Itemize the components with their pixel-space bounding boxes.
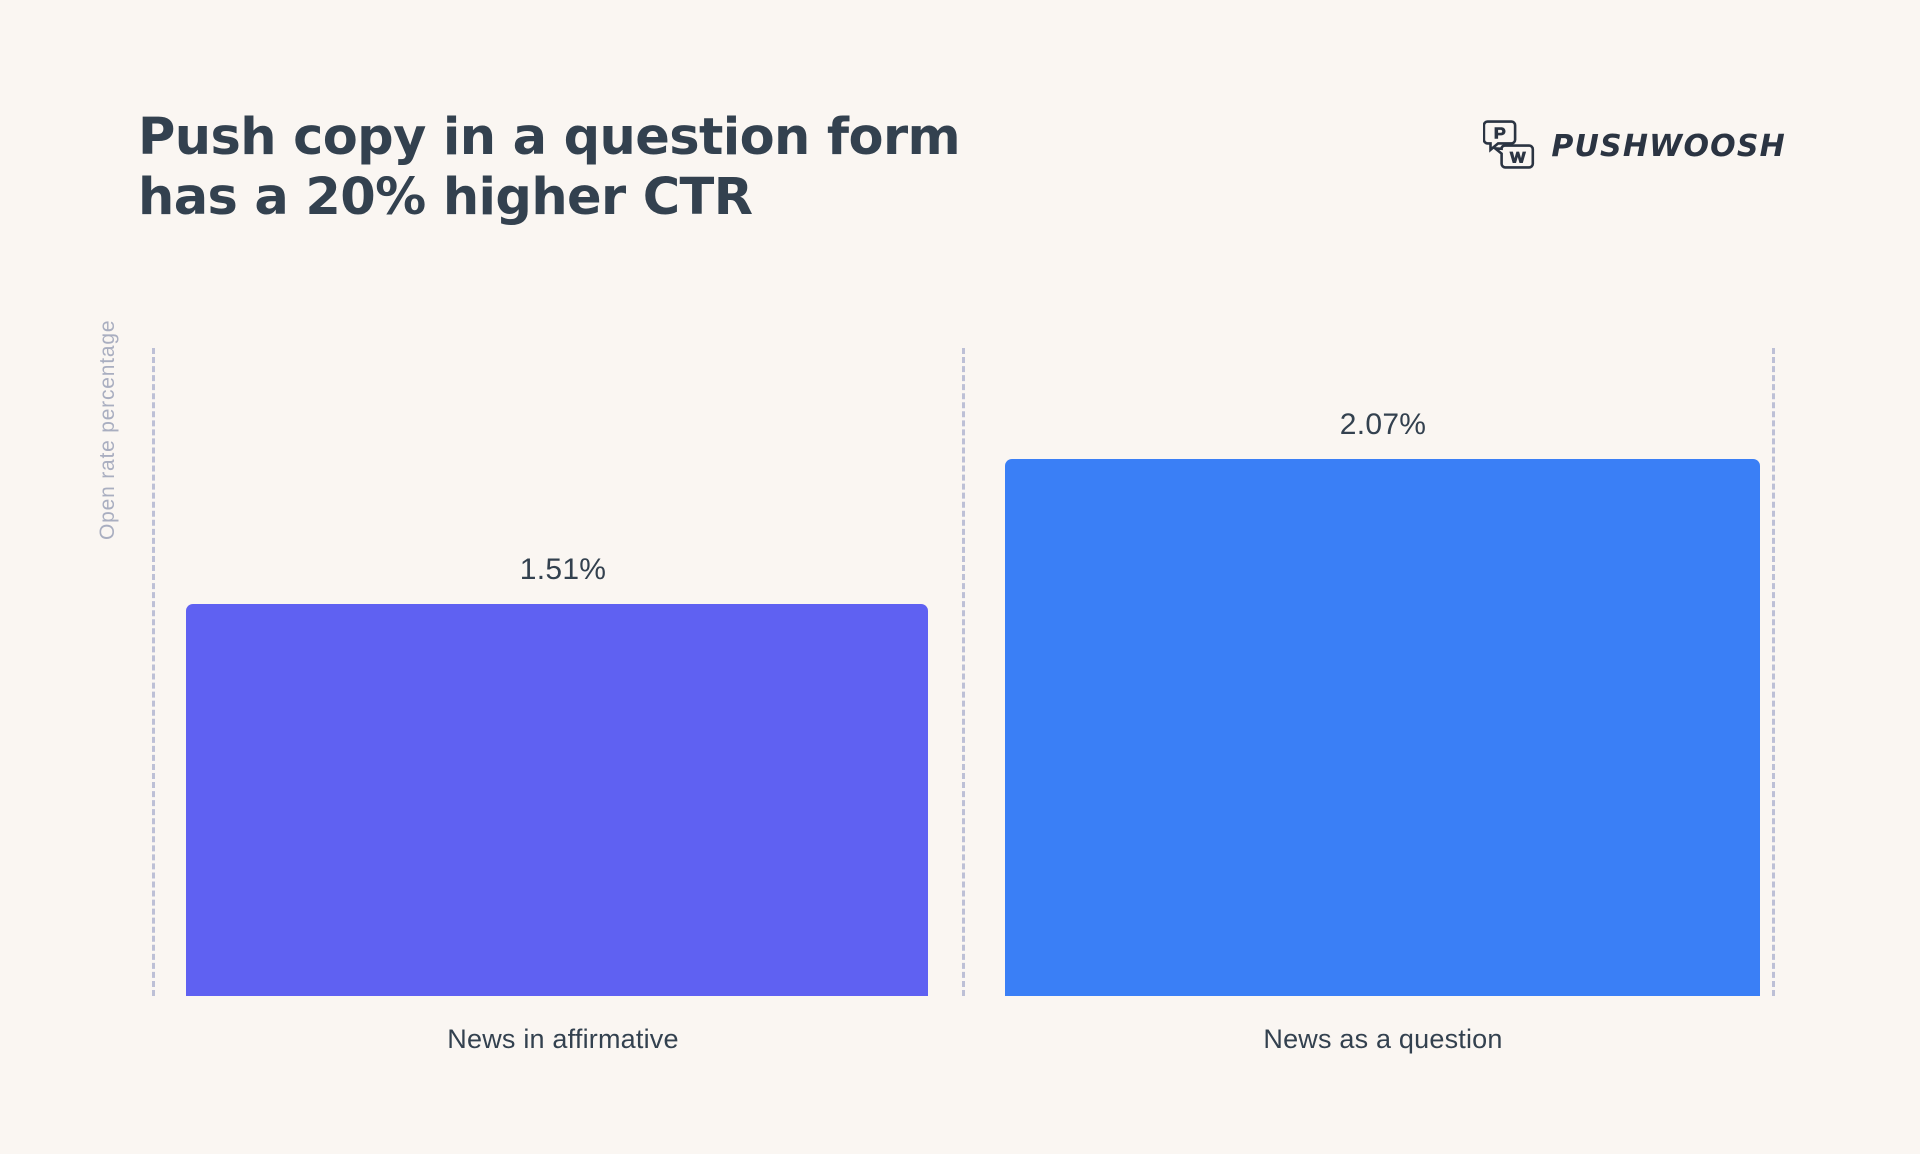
category-label: News in affirmative xyxy=(447,1024,678,1055)
chart-canvas: Push copy in a question form has a 20% h… xyxy=(0,0,1920,1154)
category-label: News as a question xyxy=(1263,1024,1502,1055)
plot-area: Open rate percentage 1.51% 2.07% News in… xyxy=(0,0,1920,1154)
y-axis-label: Open rate percentage xyxy=(96,220,120,540)
gridline-middle xyxy=(962,348,965,996)
bar-value-label: 1.51% xyxy=(520,553,607,587)
gridline-left xyxy=(152,348,155,996)
bar-news-in-affirmative[interactable] xyxy=(186,604,928,996)
gridline-right xyxy=(1772,348,1775,996)
bar-value-label: 2.07% xyxy=(1340,408,1427,442)
bar-news-as-a-question[interactable] xyxy=(1005,459,1760,996)
